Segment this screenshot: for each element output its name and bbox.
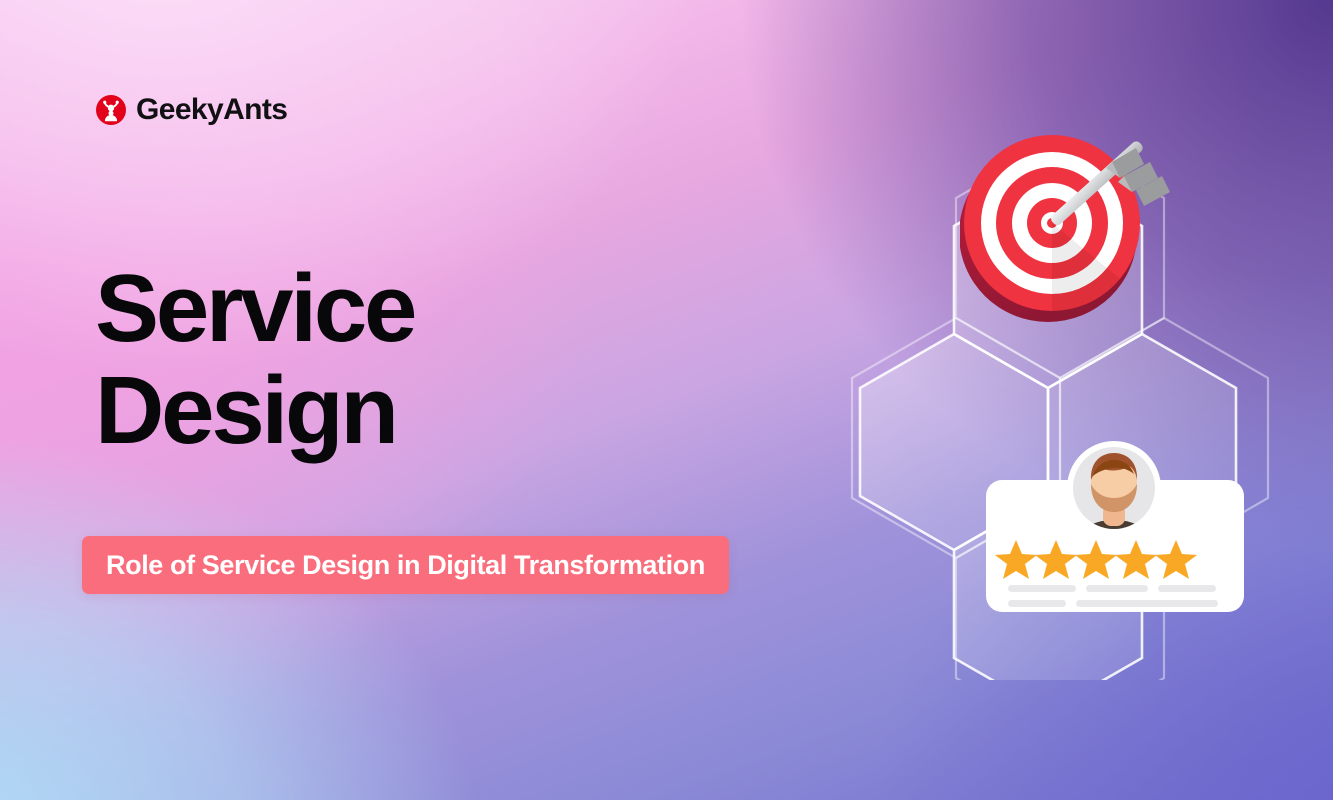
brand-name: GeekyAnts xyxy=(136,95,287,125)
review-card xyxy=(980,432,1252,618)
page-title: Service Design xyxy=(95,258,414,462)
subtitle-banner: Role of Service Design in Digital Transf… xyxy=(82,536,729,594)
geekyants-ant-icon xyxy=(95,94,127,126)
subtitle-text: Role of Service Design in Digital Transf… xyxy=(106,550,705,581)
service-design-banner: GeekyAnts Service Design Role of Service… xyxy=(0,0,1333,800)
brand-logo[interactable]: GeekyAnts xyxy=(95,94,287,126)
dartboard-target-icon xyxy=(960,118,1180,328)
